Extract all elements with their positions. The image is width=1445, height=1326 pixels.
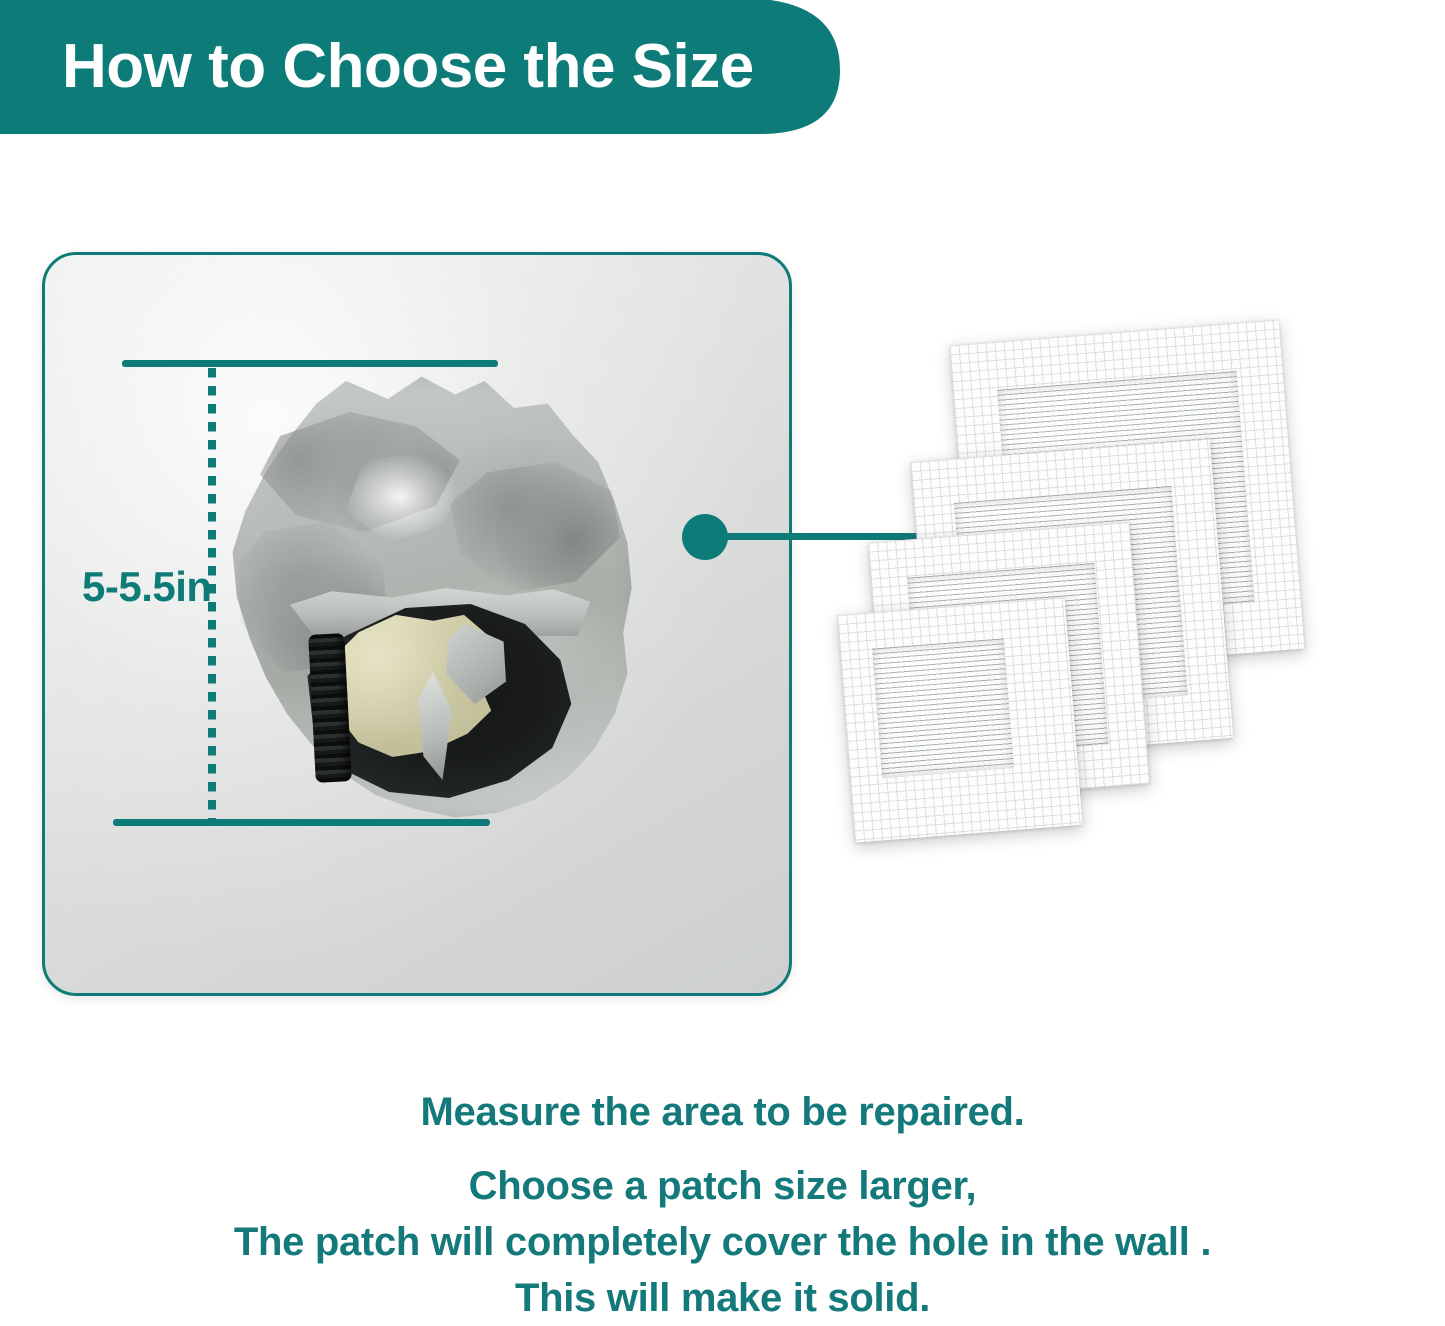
- patch-metal-core: [872, 638, 1014, 778]
- patch-small: [837, 597, 1082, 842]
- instruction-line-4: This will make it solid.: [0, 1270, 1445, 1326]
- page-title: How to Choose the Size: [62, 24, 754, 110]
- header-banner: How to Choose the Size: [0, 0, 900, 134]
- measure-bracket-top-line: [122, 360, 498, 367]
- instruction-line-2: Choose a patch size larger,: [0, 1158, 1445, 1214]
- patch-size-stack: [830, 320, 1445, 940]
- instructions-block: Measure the area to be repaired. Choose …: [0, 1084, 1445, 1326]
- drywall-hole-image: [220, 372, 640, 822]
- instruction-line-3: The patch will completely cover the hole…: [0, 1214, 1445, 1270]
- corrugated-conduit: [308, 633, 352, 783]
- measurement-label: 5-5.5in: [82, 563, 212, 611]
- instruction-line-1: Measure the area to be repaired.: [0, 1084, 1445, 1140]
